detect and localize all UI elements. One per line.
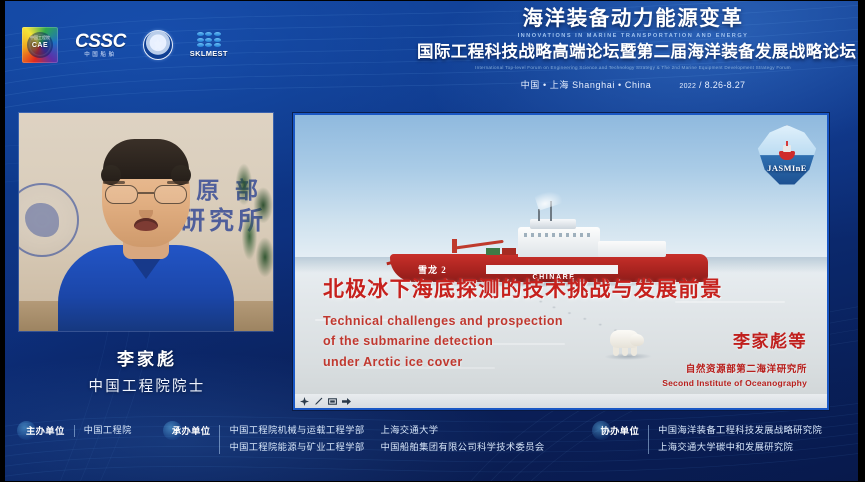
organizer-coorg-col-1: 中国工程院机械与运载工程学部 中国工程院能源与矿业工程学部 bbox=[229, 424, 364, 455]
organizer-tag-coorganizer: 承办单位 bbox=[172, 424, 220, 438]
organizer-tag-host: 主办单位 bbox=[26, 424, 74, 438]
slide-author-org-en: Second Institute of Oceanography bbox=[662, 378, 807, 388]
divider bbox=[219, 425, 220, 454]
divider bbox=[74, 425, 75, 437]
organizer-coorg-col-2: 上海交通大学 中国船舶集团有限公司科学技术委员会 bbox=[381, 424, 545, 455]
jasmine-logo-text: JASMInE bbox=[756, 163, 818, 173]
cssc-logo-zh: 中国船舶 bbox=[84, 53, 116, 59]
event-subtitle-zh: 国际工程科技战略高端论坛暨第二届海洋装备发展战略论坛 bbox=[417, 43, 849, 62]
event-meta: 中国 • 上海 Shanghai • China 2022 / 8.26-8.2… bbox=[417, 78, 849, 91]
annotation-toolbar[interactable] bbox=[295, 394, 827, 408]
plant-decor bbox=[231, 161, 273, 291]
cssc-logo-abbr: CSSC bbox=[75, 32, 126, 51]
organizer-host-col-1: 中国工程院 bbox=[84, 424, 132, 437]
organizer-group-coorganizer: 承办单位 中国工程院机械与运载工程学部 中国工程院能源与矿业工程学部 上海交通大… bbox=[172, 424, 545, 455]
slide-viewport[interactable]: CHINARE 雪龙 2 bbox=[293, 113, 829, 410]
organizer-group-host: 主办单位 中国工程院 bbox=[26, 424, 132, 438]
organizer-groups: 主办单位 中国工程院 承办单位 中国工程院机械与运载工程学部 bbox=[26, 424, 847, 474]
speaker-portrait bbox=[57, 155, 235, 331]
organizer-tag-supporter-label: 协办单位 bbox=[601, 426, 640, 436]
speaker-title: 中国工程院院士 bbox=[13, 375, 281, 396]
slide-title-en-line-3: under Arctic ice cover bbox=[323, 352, 623, 372]
slide-author-block: 李家彪等 自然资源部第二海洋研究所 Second Institute of Oc… bbox=[662, 327, 807, 388]
organizer-item: 上海交通大学 bbox=[381, 424, 545, 437]
event-subtitle-en: International Top-level Forum on Enginee… bbox=[417, 65, 849, 70]
organizer-item: 中国工程院能源与矿业工程学部 bbox=[229, 441, 364, 454]
event-title-en: INNOVATIONS IN MARINE TRANSPORTATION AND… bbox=[417, 33, 849, 39]
ship-bridge bbox=[530, 219, 576, 229]
slide-content: CHINARE 雪龙 2 bbox=[295, 115, 827, 408]
jasmine-ship-icon bbox=[779, 142, 795, 160]
cae-logo-zh: 中国工程院 bbox=[22, 35, 58, 41]
slide-title-zh: 北极冰下海底探测的技术挑战与发展前景 bbox=[323, 273, 811, 303]
eraser-icon[interactable] bbox=[328, 397, 337, 406]
ship-aft-house bbox=[598, 241, 666, 257]
event-title-zh: 海洋装备动力能源变革 bbox=[417, 8, 849, 31]
organizer-supporter-col-1: 中国海洋装备工程科技发展战略研究院 上海交通大学碳中和发展研究院 bbox=[658, 424, 822, 455]
event-date: 2022 / 8.26-8.27 bbox=[679, 80, 745, 90]
slide-title-en-line-1: Technical challenges and prospection bbox=[323, 311, 623, 331]
organizer-item: 中国工程院 bbox=[84, 424, 132, 437]
speaker-video-feed[interactable]: 原 部 研究所 bbox=[19, 113, 273, 331]
organizer-footer: 主办单位 中国工程院 承办单位 中国工程院机械与运载工程学部 bbox=[0, 410, 865, 482]
event-location: 中国 • 上海 Shanghai • China bbox=[521, 78, 652, 91]
slide-author-name: 李家彪等 bbox=[662, 327, 807, 352]
jasmine-logo: JASMInE bbox=[756, 125, 818, 187]
slide-author-org-zh: 自然资源部第二海洋研究所 bbox=[662, 361, 807, 375]
speaker-name: 李家彪 bbox=[13, 345, 281, 370]
organizer-item: 中国船舶集团有限公司科学技术委员会 bbox=[381, 441, 545, 454]
cae-logo-abbr: CAE bbox=[32, 42, 48, 49]
ship-crane bbox=[452, 239, 504, 253]
organizer-group-supporter: 协办单位 中国海洋装备工程科技发展战略研究院 上海交通大学碳中和发展研究院 bbox=[601, 424, 823, 455]
cssc-logo: CSSC 中国船舶 bbox=[75, 32, 126, 59]
sjtu-logo bbox=[143, 30, 173, 60]
ship-superstructure bbox=[518, 227, 600, 257]
organizer-item: 中国海洋装备工程科技发展战略研究院 bbox=[658, 424, 822, 437]
speaker-panel[interactable]: 原 部 研究所 李家彪 中国工程院院士 bbox=[13, 113, 281, 410]
event-date-year: 2022 bbox=[679, 83, 696, 90]
pointer-icon[interactable] bbox=[300, 397, 309, 406]
pen-icon[interactable] bbox=[314, 397, 323, 406]
event-title-block: 海洋装备动力能源变革 INNOVATIONS IN MARINE TRANSPO… bbox=[417, 8, 849, 91]
conference-header: 中国工程院 CAE CSSC 中国船舶 SKLMEST 海洋装备动力能源变革 I… bbox=[0, 0, 865, 108]
arrow-icon[interactable] bbox=[342, 397, 351, 406]
organizer-item: 中国工程院机械与运载工程学部 bbox=[229, 424, 364, 437]
wave-dots-icon bbox=[197, 32, 221, 47]
organizer-item: 上海交通大学碳中和发展研究院 bbox=[658, 441, 822, 454]
presentation-screen: 中国工程院 CAE CSSC 中国船舶 SKLMEST 海洋装备动力能源变革 I… bbox=[0, 0, 865, 482]
slide-title-en: Technical challenges and prospection of … bbox=[323, 311, 623, 372]
sklmest-logo-abbr: SKLMEST bbox=[190, 50, 228, 58]
sklmest-logo: SKLMEST bbox=[190, 32, 228, 58]
organizer-tag-supporter: 协办单位 bbox=[601, 424, 649, 438]
event-date-range: / 8.26-8.27 bbox=[699, 80, 745, 90]
cae-logo: 中国工程院 CAE bbox=[22, 27, 58, 63]
divider bbox=[648, 425, 649, 454]
sponsor-logo-strip: 中国工程院 CAE CSSC 中国船舶 SKLMEST bbox=[22, 27, 228, 63]
organizer-tag-host-label: 主办单位 bbox=[26, 426, 65, 436]
organizer-tag-coorganizer-label: 承办单位 bbox=[172, 426, 211, 436]
glasses-icon bbox=[105, 185, 187, 205]
slide-title-en-line-2: of the submarine detection bbox=[323, 331, 623, 351]
